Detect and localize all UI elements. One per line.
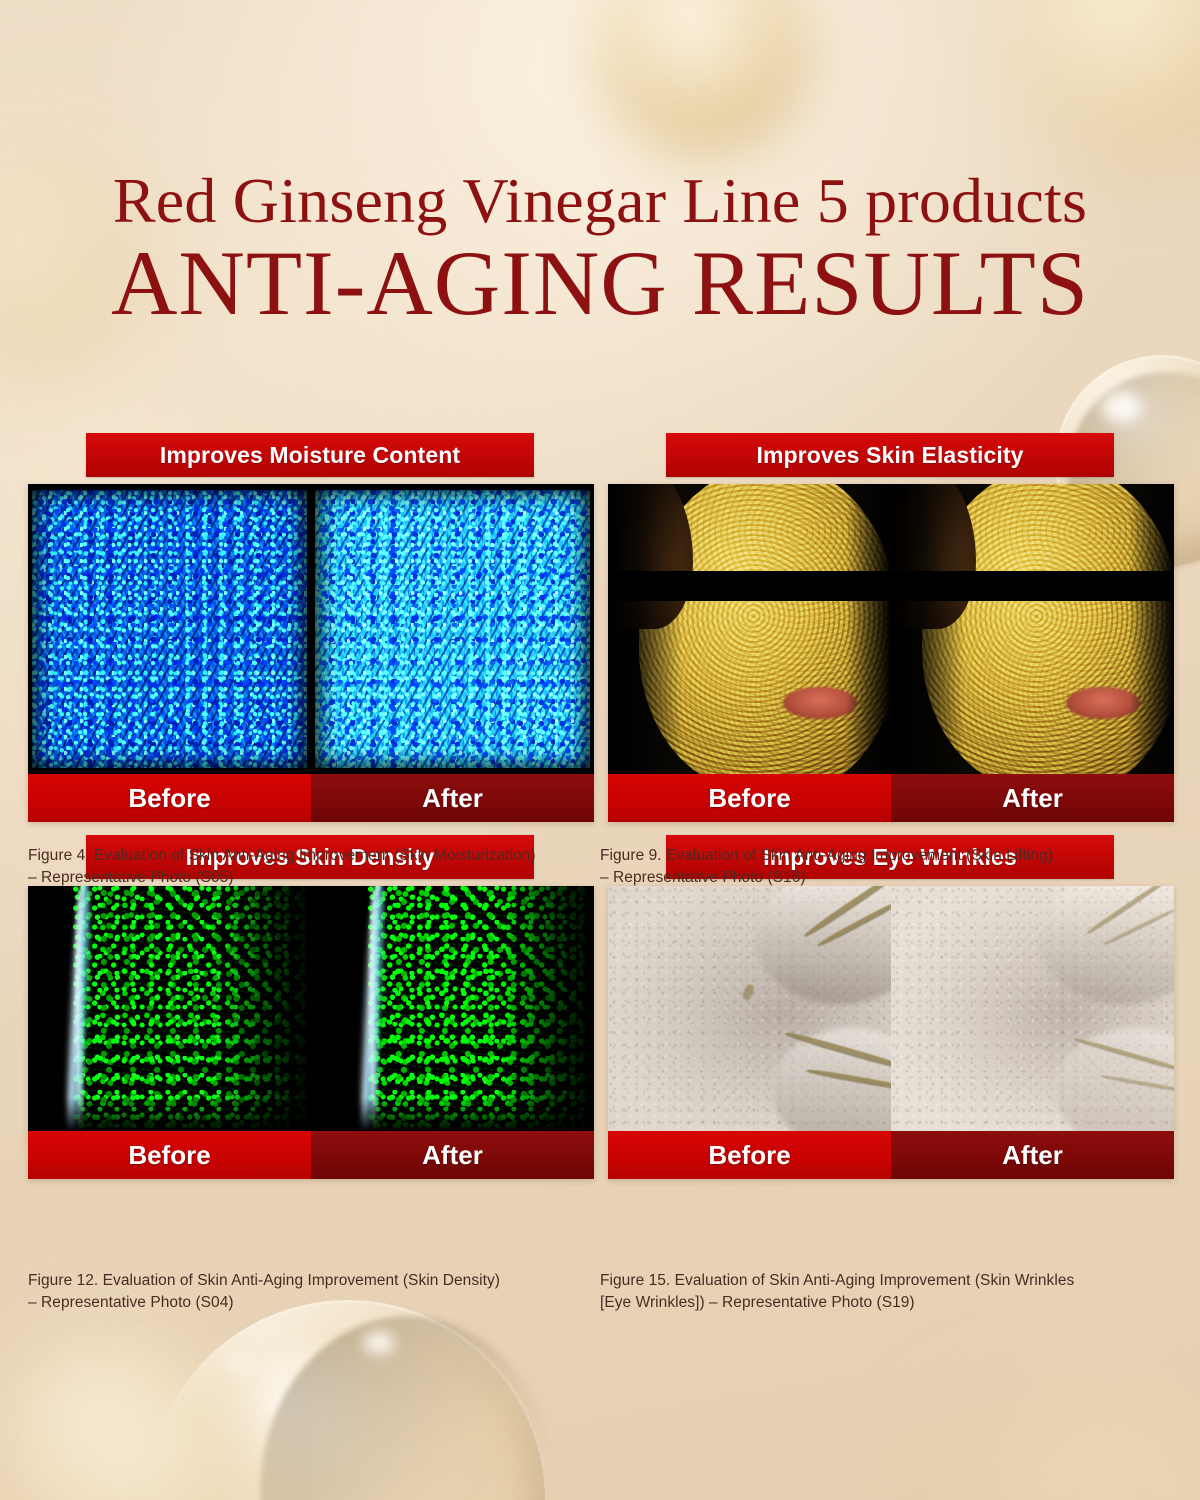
- title-line-2: ANTI-AGING RESULTS: [0, 237, 1200, 331]
- label-before: Before: [28, 1131, 311, 1179]
- caption-line-1: Figure 9. Evaluation of Skin Anti-Aging …: [600, 845, 1174, 867]
- caption-eye-wrinkles: Figure 15. Evaluation of Skin Anti-Aging…: [600, 1270, 1174, 1315]
- eye-wrinkle-after-image: [891, 886, 1174, 1131]
- privacy-eye-bar: [608, 571, 891, 601]
- title-line-1: Red Ginseng Vinegar Line 5 products: [0, 168, 1200, 233]
- label-after: After: [891, 774, 1174, 822]
- label-after: After: [311, 774, 594, 822]
- caption-moisture: Figure 4. Evaluation of Skin Anti-Aging …: [28, 845, 600, 890]
- caption-elasticity: Figure 9. Evaluation of Skin Anti-Aging …: [600, 845, 1174, 890]
- before-after-bar-moisture: Before After: [28, 774, 594, 822]
- results-grid: Improves Moisture Content Before After: [28, 433, 1174, 1179]
- before-after-bar-density: Before After: [28, 1131, 594, 1179]
- result-card-elasticity: Improves Skin Elasticity: [608, 433, 1174, 822]
- label-before: Before: [28, 774, 311, 822]
- elasticity-after-image: [891, 484, 1174, 774]
- density-after-image: [311, 886, 594, 1131]
- privacy-eye-bar: [891, 571, 1174, 601]
- image-panel-elasticity: Before After: [608, 484, 1174, 822]
- label-after: After: [311, 1131, 594, 1179]
- moisture-before-image: [28, 484, 311, 774]
- image-panel-moisture: Before After: [28, 484, 594, 822]
- density-before-image: [28, 886, 311, 1131]
- glass-sphere-bottom: [148, 1300, 548, 1500]
- caption-line-1: Figure 4. Evaluation of Skin Anti-Aging …: [28, 845, 592, 867]
- poster-title: Red Ginseng Vinegar Line 5 products ANTI…: [0, 168, 1200, 331]
- caption-density: Figure 12. Evaluation of Skin Anti-Aging…: [28, 1270, 600, 1315]
- caption-line-1: Figure 12. Evaluation of Skin Anti-Aging…: [28, 1270, 592, 1292]
- banner-elasticity: Improves Skin Elasticity: [666, 433, 1114, 477]
- before-after-bar-elasticity: Before After: [608, 774, 1174, 822]
- caption-row-bottom: Figure 12. Evaluation of Skin Anti-Aging…: [28, 1270, 1174, 1315]
- label-before: Before: [608, 1131, 891, 1179]
- poster-root: Red Ginseng Vinegar Line 5 products ANTI…: [0, 0, 1200, 1500]
- caption-line-2: [Eye Wrinkles]) – Representative Photo (…: [600, 1292, 1174, 1314]
- banner-moisture: Improves Moisture Content: [86, 433, 534, 477]
- caption-line-2: – Representative Photo (S04): [28, 1292, 592, 1314]
- eye-wrinkle-before-image: [608, 886, 891, 1131]
- label-before: Before: [608, 774, 891, 822]
- caption-row-top: Figure 4. Evaluation of Skin Anti-Aging …: [28, 845, 1174, 890]
- image-panel-density: Before After: [28, 886, 594, 1179]
- caption-line-2: – Representative Photo (S05): [28, 867, 592, 889]
- image-panel-eye-wrinkles: Before After: [608, 886, 1174, 1179]
- moisture-after-image: [311, 484, 594, 774]
- elasticity-before-image: [608, 484, 891, 774]
- label-after: After: [891, 1131, 1174, 1179]
- before-after-bar-eye-wrinkles: Before After: [608, 1131, 1174, 1179]
- result-card-moisture: Improves Moisture Content Before After: [28, 433, 594, 822]
- caption-line-2: – Representative Photo (S16): [600, 867, 1174, 889]
- caption-line-1: Figure 15. Evaluation of Skin Anti-Aging…: [600, 1270, 1174, 1292]
